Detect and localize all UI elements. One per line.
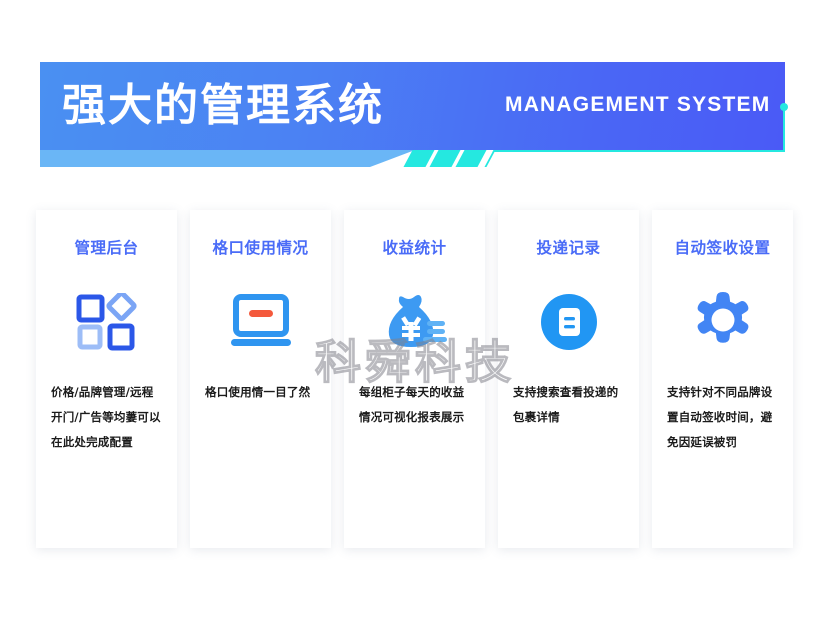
feature-cards-row: 管理后台 价格/品牌管理/远程开门/广告等均萋可以在此处完成配置 格口使用情况 …	[0, 210, 830, 550]
banner-subtitle: MANAGEMENT SYSTEM	[505, 93, 770, 117]
laptop-icon	[190, 282, 331, 362]
card-title: 投递记录	[498, 236, 639, 258]
four-shapes-icon	[36, 282, 177, 362]
cyan-vertical-line	[783, 108, 785, 152]
feature-card-auto-signoff-settings[interactable]: 自动签收设置 支持针对不同品牌设置自动签收时间，避免因延误被罚	[652, 210, 793, 548]
feature-card-slot-usage[interactable]: 格口使用情况 格口使用情一目了然	[190, 210, 331, 548]
banner-accent-strip	[40, 150, 415, 167]
document-circle-icon	[498, 282, 639, 362]
card-description: 格口使用情一目了然	[205, 380, 317, 405]
feature-card-management-backend[interactable]: 管理后台 价格/品牌管理/远程开门/广告等均萋可以在此处完成配置	[36, 210, 177, 548]
card-title: 收益统计	[344, 236, 485, 258]
card-description: 支持针对不同品牌设置自动签收时间，避免因延误被罚	[667, 380, 779, 455]
card-title: 格口使用情况	[190, 236, 331, 258]
card-title: 自动签收设置	[652, 236, 793, 258]
card-description: 支持搜索查看投递的包裹详情	[513, 380, 625, 430]
card-description: 每组柜子每天的收益情况可视化报表展示	[359, 380, 471, 430]
cyan-dot-icon	[780, 103, 788, 111]
cyan-slant-bar-3	[455, 150, 486, 167]
money-bag-icon	[344, 282, 485, 362]
gear-icon	[652, 282, 793, 362]
card-description: 价格/品牌管理/远程开门/广告等均萋可以在此处完成配置	[51, 380, 163, 455]
card-title: 管理后台	[36, 236, 177, 258]
feature-card-delivery-records[interactable]: 投递记录 支持搜索查看投递的包裹详情	[498, 210, 639, 548]
page-title: 强大的管理系统	[62, 78, 384, 134]
feature-card-revenue-statistics[interactable]: 收益统计 每组柜子每天的收益情况可视化报表展示	[344, 210, 485, 548]
cyan-slant-outline	[484, 150, 511, 167]
cyan-horizontal-line	[502, 150, 785, 152]
banner-section: 强大的管理系统 MANAGEMENT SYSTEM	[0, 0, 830, 200]
